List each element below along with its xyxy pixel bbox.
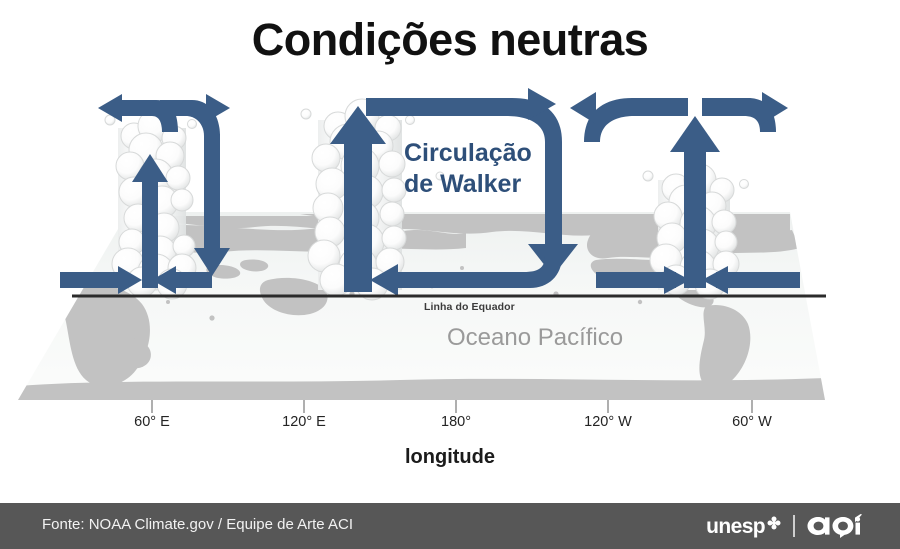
footer-bar: Fonte: NOAA Climate.gov / Equipe de Arte… bbox=[0, 503, 900, 549]
page-title: Condições neutras bbox=[0, 15, 900, 65]
walker-label-line2: de Walker bbox=[404, 169, 574, 200]
tick-label-60e: 60° E bbox=[134, 414, 170, 430]
walker-label-line1: Circulação bbox=[404, 138, 574, 169]
axis-title-longitude: longitude bbox=[0, 446, 900, 469]
unesp-logo: unesp bbox=[706, 516, 782, 537]
aci-logo bbox=[806, 514, 862, 538]
equator-label: Linha do Equador bbox=[424, 301, 515, 313]
tick-label-180: 180° bbox=[441, 414, 471, 430]
tick-label-60w: 60° W bbox=[732, 414, 772, 430]
infographic-root: Condições neutras bbox=[0, 0, 900, 549]
walker-circulation-label: Circulação de Walker bbox=[404, 138, 574, 199]
logo-group: unesp bbox=[706, 511, 862, 541]
tick-label-120w: 120° W bbox=[584, 414, 632, 430]
unesp-logo-mark bbox=[766, 515, 782, 531]
ocean-label: Oceano Pacífico bbox=[447, 324, 623, 352]
arrowhead-right-east-top bbox=[762, 92, 788, 124]
walker-circulation-diagram bbox=[0, 80, 900, 420]
arrowhead-up-east bbox=[670, 116, 720, 152]
unesp-logo-text: unesp bbox=[706, 516, 765, 537]
tick-label-120e: 120° E bbox=[282, 414, 326, 430]
logo-divider bbox=[793, 515, 795, 537]
source-credit: Fonte: NOAA Climate.gov / Equipe de Arte… bbox=[42, 516, 353, 533]
arrowhead-left-east-top bbox=[570, 92, 596, 124]
